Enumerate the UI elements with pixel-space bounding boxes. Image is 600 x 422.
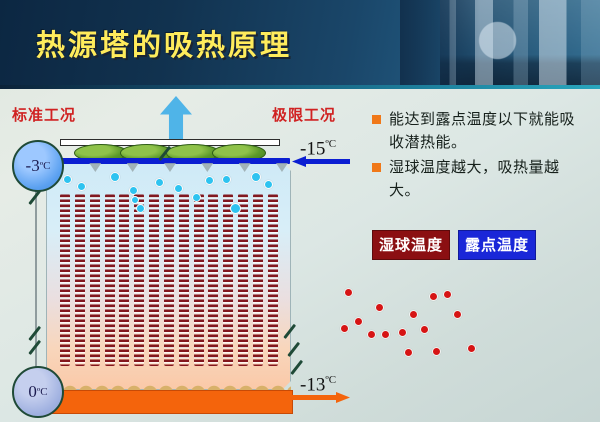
fill-column [179,194,189,366]
bullet-text: 湿球温度越大，吸热量越大。 [389,156,588,202]
water-droplet [131,196,139,204]
fill-column [134,194,144,366]
fill-column [194,194,204,366]
fill-column [105,194,115,366]
water-droplet [155,178,164,187]
water-droplet [110,172,120,182]
notes-list: 能达到露点温度以下就能吸收潜热能。 湿球温度越大，吸热量越大。 [372,108,588,204]
temp-inlet-unit: ºC [325,138,336,150]
water-droplet [205,176,214,185]
heat-particle-dot [420,325,429,334]
tag-wet-bulb-temperature: 湿球温度 [372,230,450,260]
temp-badge-top: -3ºC [12,140,64,192]
temp-label-outlet: -13ºC [300,374,336,396]
list-item: 能达到露点温度以下就能吸收潜热能。 [372,108,588,154]
tag-dew-point-temperature: 露点温度 [458,230,536,260]
water-droplet [77,182,86,191]
fill-column [75,194,85,366]
square-bullet-icon [372,115,381,124]
fill-column [208,194,218,366]
temp-badge-bottom: 0ºC [12,366,64,418]
temp-outlet-value: -13 [300,374,325,395]
heat-particle-dot [467,344,476,353]
water-droplet [264,180,273,189]
spray-nozzles [52,163,288,173]
fill-column [223,194,233,366]
arrow-head-icon [336,392,350,403]
photo-fade-overlay [400,0,480,88]
temp-bottom-value: 0 [28,382,37,402]
heat-particle-dot [398,328,407,337]
temp-top-unit: ºC [40,160,51,172]
heat-particle-dot [367,330,376,339]
water-droplet [251,172,261,182]
heat-particle-dot [344,288,353,297]
spray-nozzle [239,163,251,172]
heat-particle-dot [381,330,390,339]
fill-column [164,194,174,366]
spray-nozzle [164,163,176,172]
water-basin [46,390,293,414]
header-divider [0,85,600,89]
fill-column [268,194,278,366]
label-standard-condition: 标准工况 [12,104,76,125]
heat-particle-dot [453,310,462,319]
water-droplet [174,184,183,193]
heat-particle-dot [375,303,384,312]
heat-particle-dot [340,324,349,333]
up-arrow-air-out [160,96,192,140]
label-limit-condition: 极限工况 [272,104,336,125]
heat-particle-dot [404,348,413,357]
spray-nozzle [89,163,101,172]
fill-column [238,194,248,366]
temp-top-value: -3 [26,156,40,176]
heat-source-tower [46,162,291,390]
fill-column [90,194,100,366]
pipe-break-hatch [290,360,302,375]
heat-particle-dot [354,317,363,326]
heat-particle-dot [432,347,441,356]
water-droplet [129,186,138,195]
fill-column [60,194,70,366]
spray-nozzle [127,163,139,172]
water-droplet [136,204,145,213]
fill-column [253,194,263,366]
temp-inlet-value: -15 [300,138,325,159]
spray-nozzle [276,163,288,172]
slide-header: 热源塔的吸热原理 [0,0,600,88]
temp-bottom-unit: ºC [37,386,48,398]
heat-particle-dot [429,292,438,301]
fill-column [119,194,129,366]
water-droplet [230,203,241,214]
temp-label-inlet: -15ºC [300,138,336,160]
square-bullet-icon [372,163,381,172]
heat-particle-dot [409,310,418,319]
heat-particle-dot [443,290,452,299]
water-droplet [222,175,231,184]
water-droplet [192,193,201,202]
bullet-text: 能达到露点温度以下就能吸收潜热能。 [389,108,588,154]
wave-fill-media [60,194,278,366]
page-title: 热源塔的吸热原理 [36,22,292,64]
term-tag-bar: 湿球温度 露点温度 [372,230,536,260]
spray-nozzle [201,163,213,172]
temp-outlet-unit: ºC [325,374,336,386]
slide-canvas: 热源塔的吸热原理 标准工况 极限工况 [0,0,600,422]
list-item: 湿球温度越大，吸热量越大。 [372,156,588,202]
water-droplet [63,175,72,184]
fill-column [149,194,159,366]
